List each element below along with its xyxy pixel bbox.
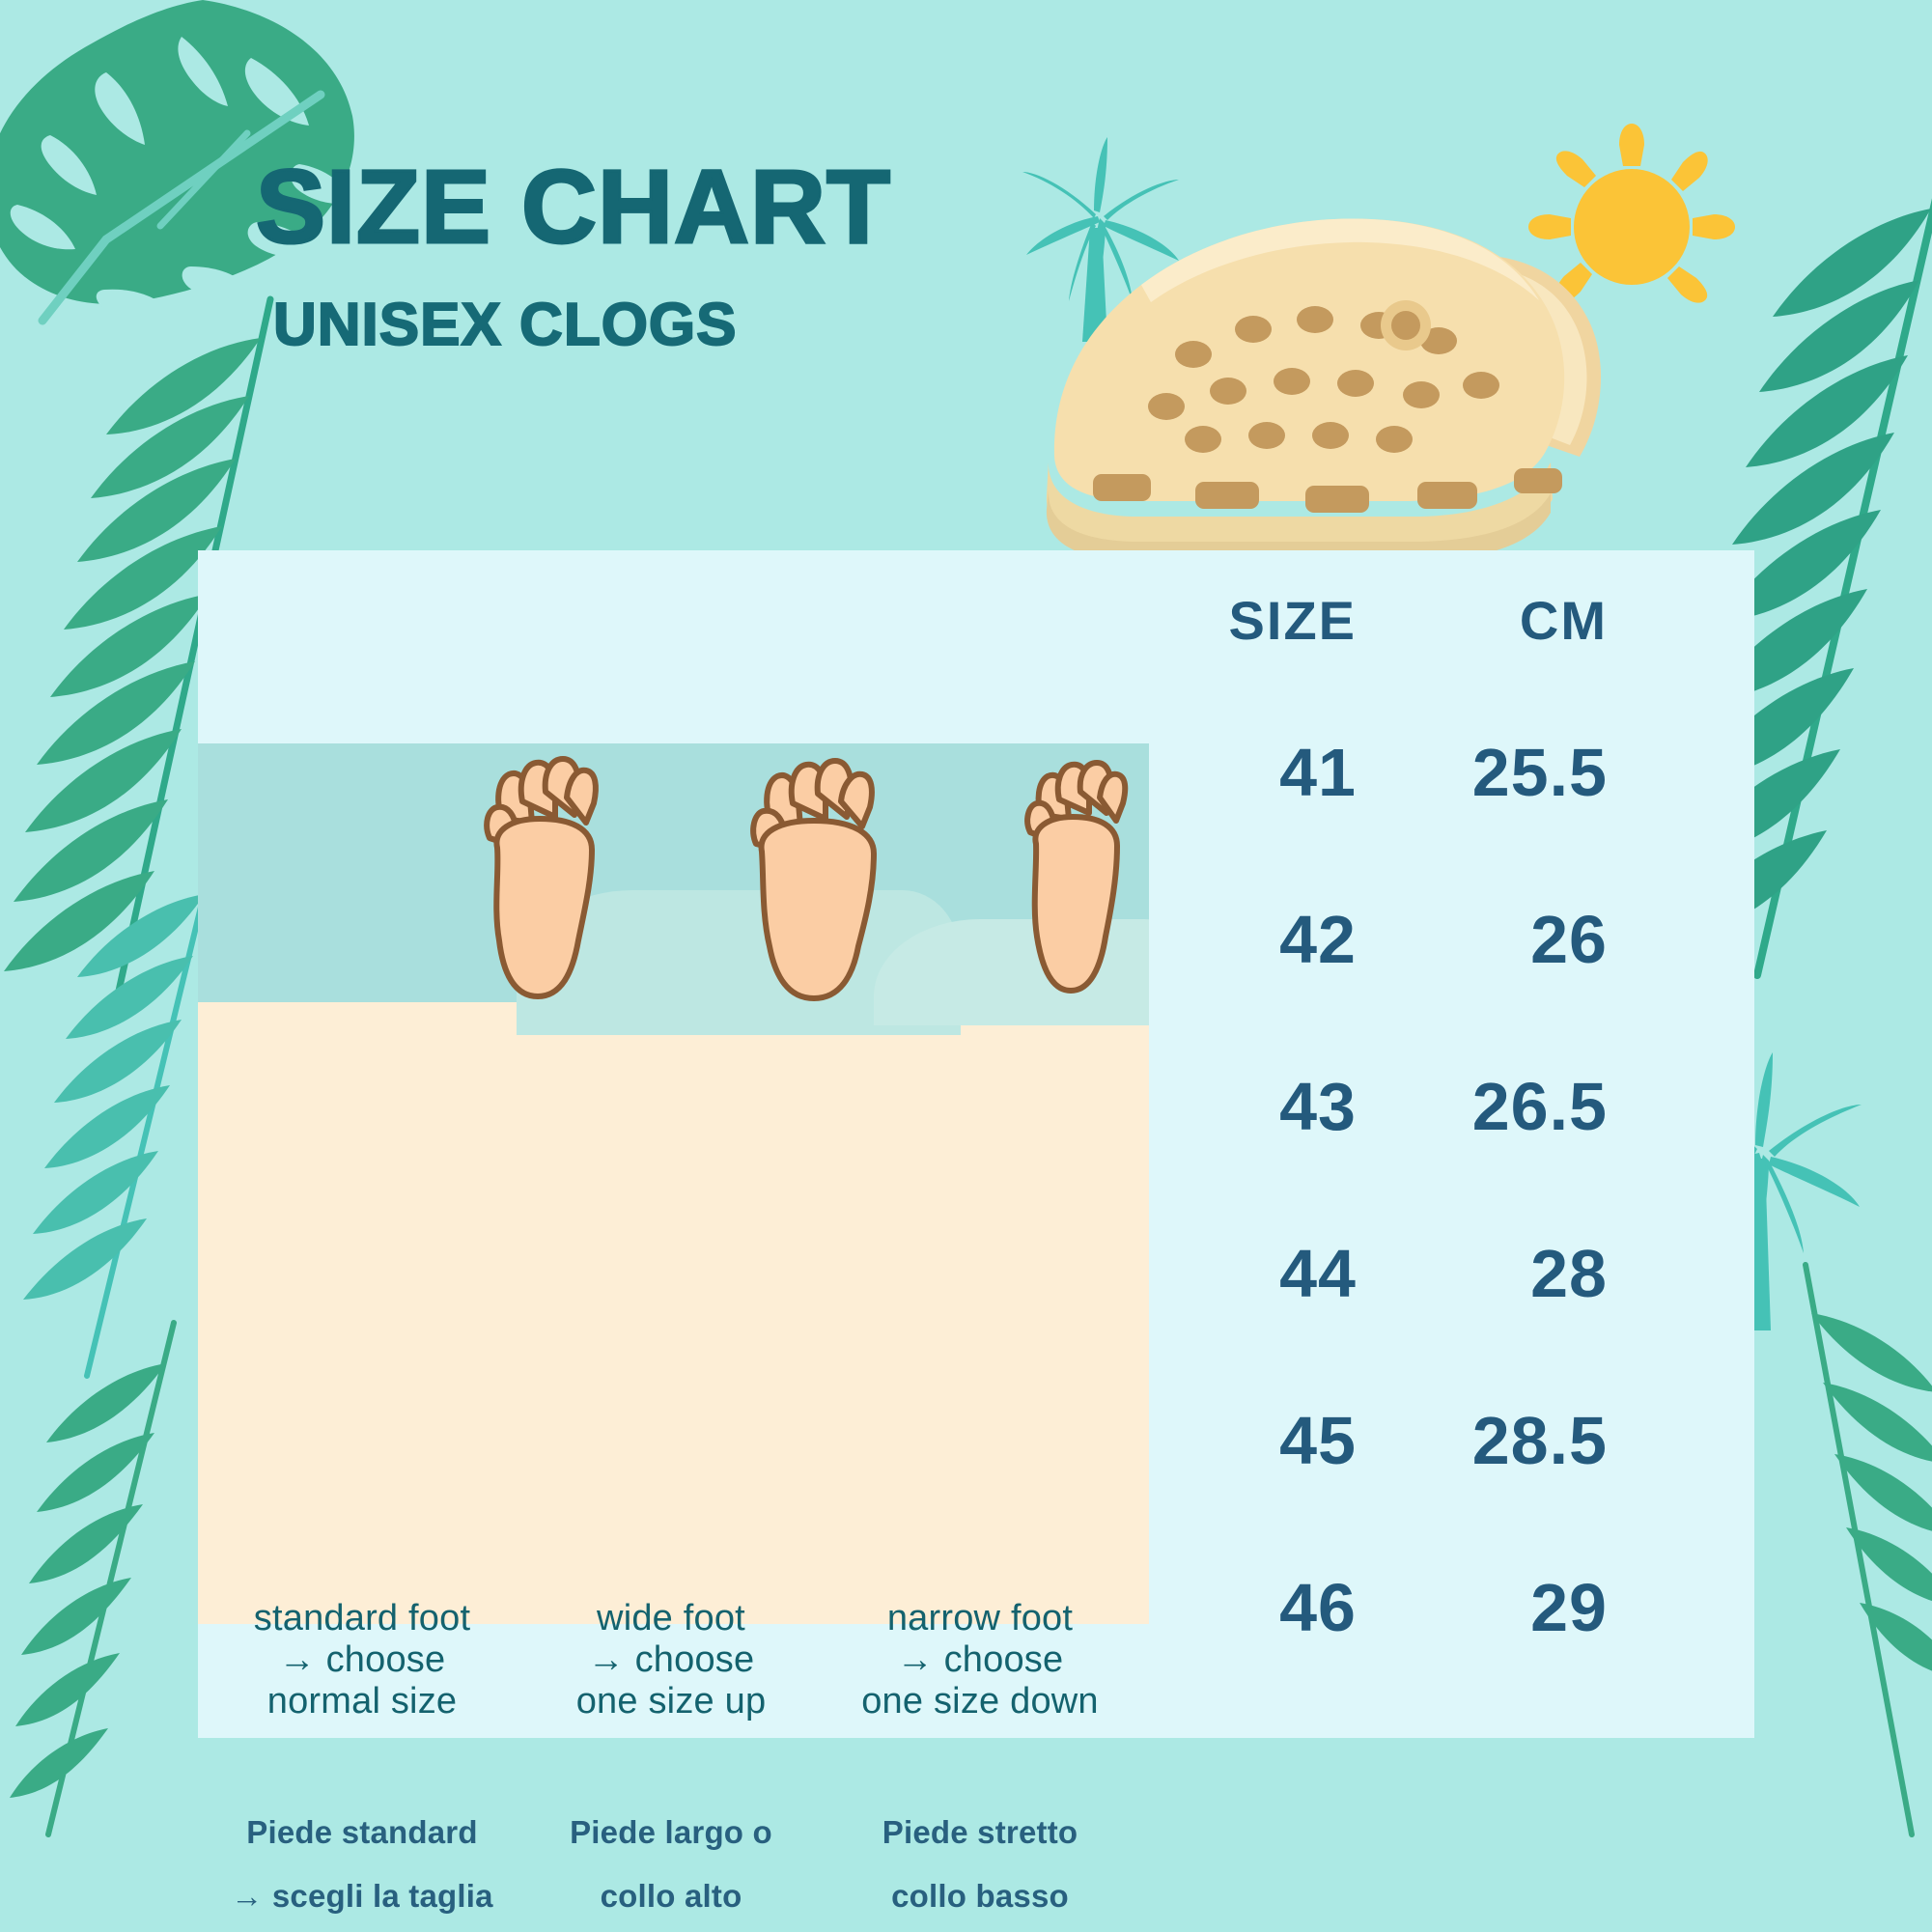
cell-cm: 28.5 <box>1357 1402 1608 1479</box>
page-title: SIZE CHART <box>256 154 990 259</box>
caption-line: Piede standard <box>198 1801 526 1864</box>
page-subtitle: UNISEX CLOGS <box>273 295 990 355</box>
caption-line: Piede largo o <box>526 1801 816 1864</box>
caption-line: → scegli la taglia <box>816 1928 1144 1932</box>
wide-foot-icon <box>746 755 883 1014</box>
cell-cm: 25.5 <box>1357 734 1608 811</box>
table-header-row: SIZE CM <box>1163 589 1704 734</box>
cell-cm: 28 <box>1357 1235 1608 1312</box>
column-header-size: SIZE <box>1163 589 1357 652</box>
cell-size: 43 <box>1163 1068 1357 1145</box>
italian-captions: Piede standard → scegli la taglia abitua… <box>198 1801 1163 1932</box>
caption-line: standard foot <box>198 1598 526 1639</box>
caption-line: collo alto <box>526 1864 816 1928</box>
cell-size: 44 <box>1163 1235 1357 1312</box>
table-row: 42 26 <box>1163 901 1704 1068</box>
caption-line: Piede stretto <box>816 1801 1144 1864</box>
size-table: SIZE CM 41 25.5 42 26 43 26.5 44 28 45 2… <box>1163 589 1704 1736</box>
content-panel: standard foot → choose normal size wide … <box>198 550 1754 1738</box>
clog-shoe-icon <box>1023 150 1661 565</box>
cell-cm: 29 <box>1357 1569 1608 1646</box>
standard-foot-icon <box>476 755 602 1014</box>
caption-line: → choose <box>198 1639 526 1681</box>
caption-line: abituale <box>198 1928 526 1932</box>
caption-line: collo basso <box>816 1864 1144 1928</box>
sand-band <box>198 1002 1149 1624</box>
table-row: 43 26.5 <box>1163 1068 1704 1235</box>
sun-icon <box>1521 116 1743 338</box>
table-row: 45 28.5 <box>1163 1402 1704 1569</box>
table-row: 44 28 <box>1163 1235 1704 1402</box>
narrow-foot-icon <box>1017 755 1129 1014</box>
caption-line: one size up <box>526 1681 816 1722</box>
table-row: 41 25.5 <box>1163 734 1704 901</box>
caption-line: → choose <box>816 1639 1144 1681</box>
caption-line: normal size <box>198 1681 526 1722</box>
palm-frond-icon <box>1767 1255 1932 1854</box>
palm-tree-icon <box>999 135 1192 348</box>
column-header-cm: CM <box>1357 589 1608 652</box>
caption-line: one size down <box>816 1681 1144 1722</box>
caption-line: → choose <box>526 1639 816 1681</box>
palm-frond-icon <box>0 850 232 1390</box>
cell-size: 42 <box>1163 901 1357 978</box>
cell-cm: 26.5 <box>1357 1068 1608 1145</box>
cell-size: 45 <box>1163 1402 1357 1479</box>
cell-cm: 26 <box>1357 901 1608 978</box>
caption-line: → scegli la taglia <box>198 1864 526 1928</box>
poster-header: SIZE CHART UNISEX CLOGS <box>256 154 990 355</box>
palm-frond-icon <box>0 1313 203 1854</box>
foot-illustration <box>198 743 1149 1624</box>
caption-line: narrow foot <box>816 1598 1144 1639</box>
table-row: 46 29 <box>1163 1569 1704 1736</box>
cell-size: 41 <box>1163 734 1357 811</box>
caption-line: → scegli una taglia <box>526 1928 816 1932</box>
size-chart-poster: SIZE CHART UNISEX CLOGS <box>0 0 1932 1932</box>
caption-line: wide foot <box>526 1598 816 1639</box>
cell-size: 46 <box>1163 1569 1357 1646</box>
english-captions: standard foot → choose normal size wide … <box>198 1598 1163 1722</box>
